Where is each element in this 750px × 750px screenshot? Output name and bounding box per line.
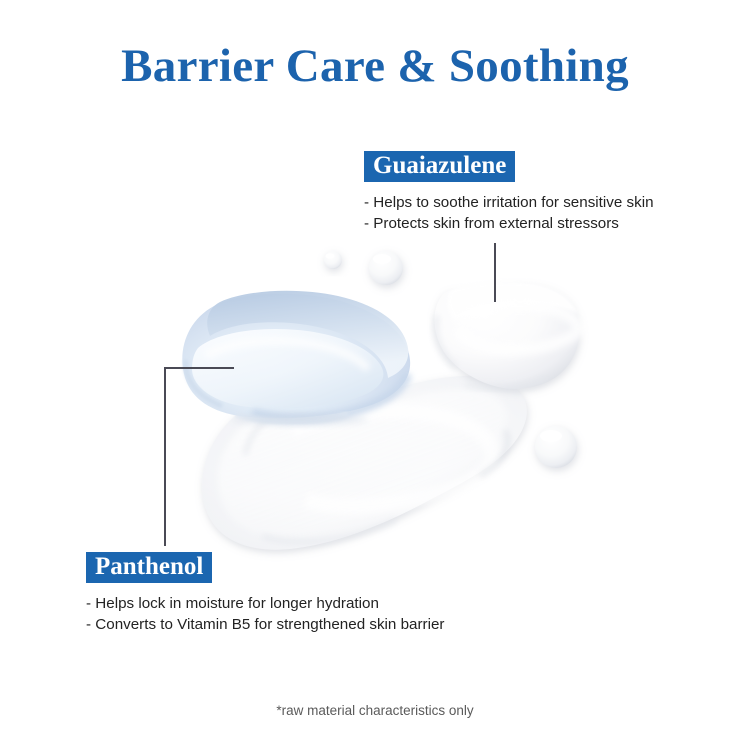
product-texture-artwork: [0, 0, 750, 750]
panthenol-leader-line-vertical: [164, 367, 166, 546]
guaiazulene-leader-line: [494, 243, 496, 302]
ingredient-badge-panthenol: Panthenol: [86, 552, 212, 583]
benefit-list-guaiazulene: - Helps to soothe irritation for sensiti…: [364, 192, 654, 234]
benefit-item: - Converts to Vitamin B5 for strengthene…: [86, 614, 444, 635]
benefit-item: - Protects skin from external stressors: [364, 213, 654, 234]
droplet-small-left: [324, 251, 342, 269]
blue-gel-swatch: [182, 291, 410, 426]
benefit-item: - Helps to soothe irritation for sensiti…: [364, 192, 654, 213]
panthenol-leader-line-horizontal: [164, 367, 234, 369]
footnote-disclaimer: *raw material characteristics only: [0, 703, 750, 718]
benefit-item: - Helps lock in moisture for longer hydr…: [86, 593, 444, 614]
ingredient-block-panthenol: Panthenol - Helps lock in moisture for l…: [86, 552, 444, 635]
droplet-right: [535, 426, 577, 468]
ingredient-block-guaiazulene: Guaiazulene - Helps to soothe irritation…: [364, 151, 654, 234]
ingredient-badge-guaiazulene: Guaiazulene: [364, 151, 515, 182]
droplet-medium-left: [369, 251, 403, 285]
infographic-canvas: Barrier Care & Soothing Guaiazulene - He…: [0, 0, 750, 750]
cream-swatch-panthenol: [202, 376, 527, 550]
benefit-list-panthenol: - Helps lock in moisture for longer hydr…: [86, 593, 444, 635]
cream-swatch-guaiazulene: [434, 282, 580, 389]
page-title: Barrier Care & Soothing: [0, 42, 750, 91]
